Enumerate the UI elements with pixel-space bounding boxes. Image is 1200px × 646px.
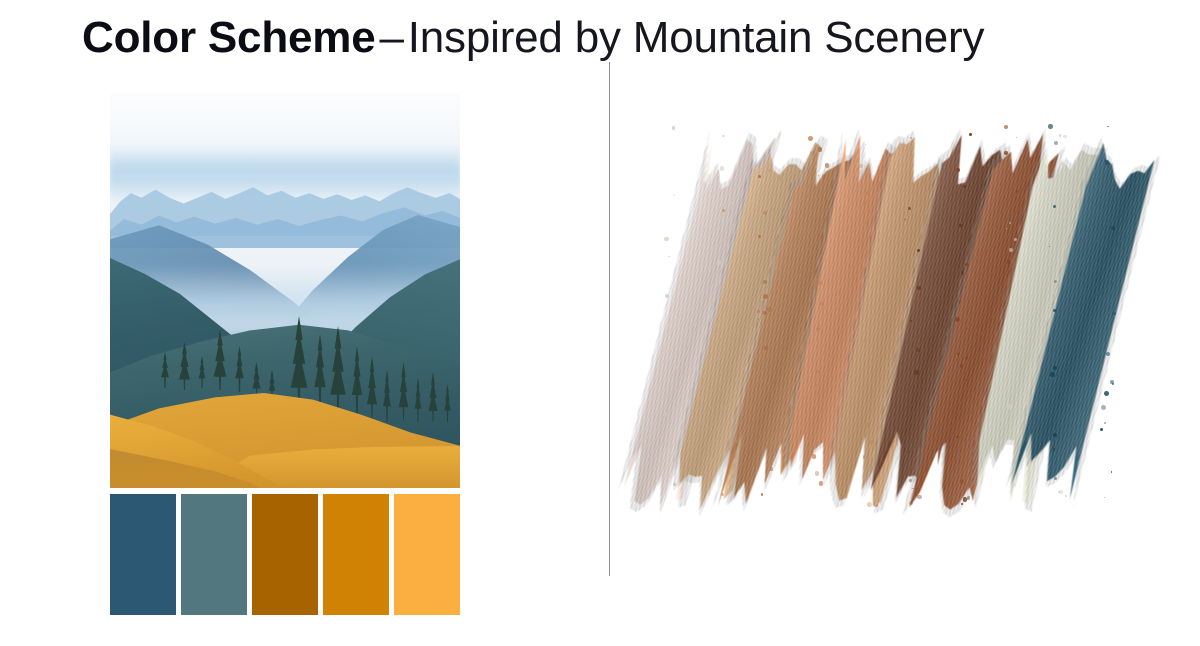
color-palette-swatches bbox=[110, 494, 460, 615]
eyeshadow-powder-speck bbox=[956, 168, 960, 172]
eyeshadow-powder-speck bbox=[1050, 372, 1055, 377]
eyeshadow-powder-speck bbox=[869, 440, 873, 444]
eyeshadow-powder-speck bbox=[956, 436, 959, 439]
eyeshadow-powder-speck bbox=[1053, 366, 1057, 370]
eyeshadow-powder-speck bbox=[1014, 238, 1017, 241]
page-title: Color Scheme–Inspired by Mountain Scener… bbox=[82, 12, 984, 64]
eyeshadow-powder-speck bbox=[813, 407, 815, 409]
eyeshadow-powder-speck bbox=[866, 423, 869, 426]
eyeshadow-powder-speck bbox=[662, 334, 666, 338]
eyeshadow-powder-speck bbox=[817, 370, 820, 373]
eyeshadow-powder-speck bbox=[867, 502, 871, 506]
eyeshadow-powder-speck bbox=[961, 503, 962, 504]
eyeshadow-powder-speck bbox=[773, 430, 775, 432]
eyeshadow-powder-speck bbox=[1054, 280, 1057, 283]
swatch-slate-teal[interactable] bbox=[181, 494, 247, 615]
eyeshadow-powder-speck bbox=[819, 281, 823, 285]
eyeshadow-powder-speck bbox=[763, 311, 767, 315]
eyeshadow-powder-speck bbox=[908, 207, 911, 210]
eyeshadow-powder-speck bbox=[666, 474, 670, 478]
eyeshadow-powder-speck bbox=[1111, 226, 1114, 229]
eyeshadow-powder-speck bbox=[815, 391, 819, 395]
page-title-subtitle: Inspired by Mountain Scenery bbox=[408, 13, 985, 62]
eyeshadow-powder-speck bbox=[865, 247, 868, 250]
eyeshadow-powder-speck bbox=[758, 175, 761, 178]
eyeshadow-powder-speck bbox=[819, 325, 820, 326]
page-title-strong: Color Scheme bbox=[82, 13, 375, 62]
eyeshadow-powder-speck bbox=[863, 340, 865, 342]
eyeshadow-powder-speck bbox=[1105, 160, 1109, 164]
eyeshadow-powder-speck bbox=[1100, 428, 1103, 431]
eyeshadow-powder-speck bbox=[1014, 308, 1018, 312]
mountain-scenery-photo bbox=[110, 94, 460, 488]
eyeshadow-powder-speck bbox=[763, 280, 767, 284]
eyeshadow-powder-speck bbox=[1112, 383, 1114, 385]
eyeshadow-powder-speck bbox=[1006, 228, 1007, 229]
eyeshadow-powder-speck bbox=[908, 451, 910, 453]
eyeshadow-powder-speck bbox=[1054, 477, 1057, 480]
eyeshadow-powder-speck bbox=[1053, 433, 1057, 437]
eyeshadow-powder-speck bbox=[1053, 205, 1056, 208]
eyeshadow-powder-speck bbox=[763, 211, 767, 215]
eyeshadow-powder-speck bbox=[662, 347, 667, 352]
crushed-eyeshadow-swatches bbox=[655, 118, 1125, 518]
eyeshadow-powder-speck bbox=[1113, 201, 1114, 202]
eyeshadow-powder-speck bbox=[965, 357, 967, 359]
eyeshadow-powder-speck bbox=[956, 246, 958, 248]
eyeshadow-powder-speck bbox=[773, 381, 777, 385]
eyeshadow-powder-speck bbox=[1013, 429, 1016, 432]
eyeshadow-powder-speck bbox=[1009, 222, 1011, 224]
eyeshadow-powder-speck bbox=[999, 392, 1003, 396]
eyeshadow-powder-speck bbox=[863, 222, 868, 227]
eyeshadow-powder-speck bbox=[1009, 248, 1013, 252]
eyeshadow-powder-speck bbox=[1054, 141, 1058, 145]
eyeshadow-powder-speck bbox=[859, 260, 863, 264]
eyeshadow-stripe-dark-teal bbox=[1053, 118, 1115, 518]
swatch-golden-orange[interactable] bbox=[394, 494, 460, 615]
eyeshadow-powder-speck bbox=[812, 454, 817, 459]
eyeshadow-powder-speck bbox=[914, 370, 918, 374]
eyeshadow-powder-speck bbox=[664, 237, 668, 241]
eyeshadow-powder-speck bbox=[757, 310, 760, 313]
eyeshadow-powder-speck bbox=[965, 215, 967, 217]
eyeshadow-powder-speck bbox=[666, 459, 669, 462]
eyeshadow-powder-speck bbox=[917, 249, 920, 252]
eyeshadow-powder-speck bbox=[965, 379, 967, 381]
eyeshadow-powder-speck bbox=[917, 286, 920, 289]
eyeshadow-powder-speck bbox=[860, 209, 862, 211]
eyeshadow-powder-speck bbox=[668, 256, 669, 257]
page-title-dash: – bbox=[375, 13, 407, 62]
vertical-divider bbox=[609, 62, 610, 576]
eyeshadow-powder-speck bbox=[957, 353, 959, 355]
eyeshadow-powder-speck bbox=[764, 346, 767, 349]
swatch-deep-teal-blue[interactable] bbox=[110, 494, 176, 615]
eyeshadow-powder-speck bbox=[1048, 124, 1052, 128]
eyeshadow-powder-speck bbox=[673, 194, 675, 196]
eyeshadow-powder-speck bbox=[675, 366, 679, 370]
eyeshadow-powder-speck bbox=[1007, 404, 1012, 409]
swatch-burnt-orange[interactable] bbox=[323, 494, 389, 615]
eyeshadow-powder-speck bbox=[1104, 391, 1109, 396]
eyeshadow-powder-speck bbox=[763, 294, 768, 299]
swatch-dark-amber[interactable] bbox=[252, 494, 318, 615]
eyeshadow-powder-speck bbox=[714, 331, 717, 334]
